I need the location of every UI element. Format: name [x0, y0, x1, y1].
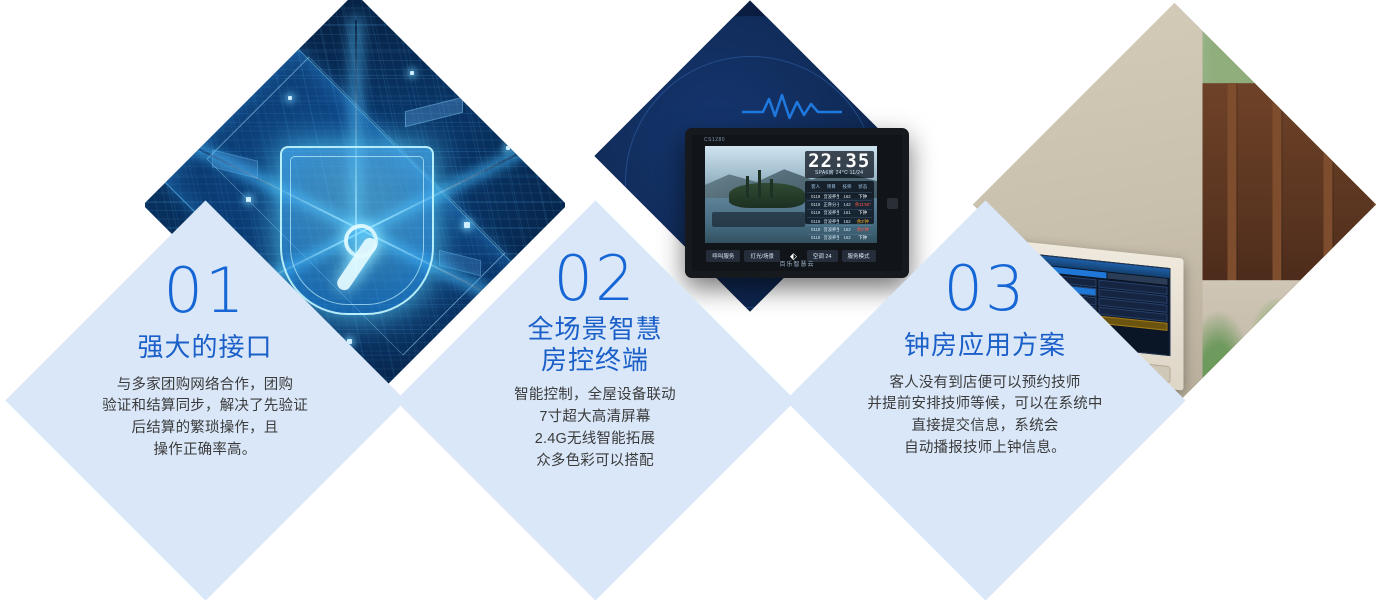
- spark-dot: [464, 222, 470, 228]
- terminal-model-label: CS1280: [704, 137, 725, 143]
- table-row: 0119音波养生SPA162下钟: [807, 234, 872, 242]
- screen-wallpaper-tree: [746, 176, 749, 198]
- table-cell-room: 0119: [808, 194, 824, 200]
- table-cell-status: 余3'钟: [855, 219, 871, 225]
- table-cell-item: 音波养生SPA: [823, 235, 839, 241]
- table-cell-tech: 162: [839, 219, 855, 225]
- screen-wallpaper-island: [729, 183, 805, 208]
- table-row: 0119正骨分子疗法理疗142余11'50": [807, 200, 872, 208]
- table-row: 0119音波养生SPA161下钟: [807, 209, 872, 217]
- table-row: 0119音波养生SPA162余3'钟: [807, 217, 872, 225]
- table-cell-status: 下钟: [855, 235, 871, 241]
- table-cell-status: 下钟: [855, 210, 871, 216]
- table-cell-status: 余11'50": [855, 202, 871, 208]
- wood-slat: [1272, 82, 1281, 298]
- keyhole-stem: [334, 235, 379, 293]
- terminal-screen[interactable]: 22:35 SPA6房 24°C 11/24 客人 项目 技师 状态 0119音…: [705, 146, 877, 243]
- table-row: 0119音波养生SPA162下钟: [807, 192, 872, 200]
- table-cell-room: 0119: [808, 202, 824, 208]
- spark-dot: [506, 146, 510, 150]
- table-body: 0119音波养生SPA162下钟0119正骨分子疗法理疗142余11'50"01…: [807, 192, 872, 242]
- terminal-brand-logo: 百乐智慧云: [692, 259, 902, 268]
- table-cell-room: 0119: [808, 210, 824, 216]
- table-cell-room: 0119: [808, 227, 824, 233]
- screen-wallpaper-tree: [770, 179, 773, 198]
- wood-slat: [1374, 82, 1376, 298]
- col-header-item: 项目: [823, 184, 839, 190]
- panel-list-right: [1099, 279, 1168, 330]
- table-cell-room: 0119: [808, 219, 824, 225]
- table-cell-tech: 162: [839, 227, 855, 233]
- table-cell-status: 余2'钟: [855, 227, 871, 233]
- table-cell-item: 音波养生SPA: [823, 227, 839, 233]
- rfid-reader-icon: [887, 198, 898, 209]
- table-header-row: 客人 项目 技师 状态: [807, 183, 872, 192]
- diamond-feature-board: CS1280 22:35 SPA6房 24°C 11/24 客人 项目 技师 状…: [0, 0, 1381, 603]
- clock-meta: SPA6房 24°C 11/24: [805, 169, 874, 176]
- col-header-status: 状态: [855, 184, 871, 190]
- table-cell-room: 0119: [808, 235, 824, 241]
- potted-plant: [1250, 297, 1306, 383]
- table-cell-item: 正骨分子疗法理疗: [823, 202, 839, 208]
- table-cell-tech: 142: [839, 202, 855, 208]
- spark-dot: [410, 71, 414, 75]
- table-cell-item: 音波养生SPA: [823, 194, 839, 200]
- col-header-guest: 客人: [808, 184, 824, 190]
- keyhole-ring: [344, 224, 378, 258]
- table-cell-item: 音波养生SPA: [823, 219, 839, 225]
- col-header-tech: 技师: [839, 184, 855, 190]
- table-cell-tech: 162: [839, 194, 855, 200]
- pulse-wave-icon: [742, 88, 842, 128]
- table-cell-tech: 162: [839, 235, 855, 241]
- wood-slat: [1323, 82, 1332, 298]
- shield-icon: [280, 146, 434, 315]
- clock-widget: 22:35 SPA6房 24°C 11/24: [805, 151, 874, 178]
- service-status-table: 客人 项目 技师 状态 0119音波养生SPA162下钟0119正骨分子疗法理疗…: [805, 181, 874, 224]
- table-cell-item: 音波养生SPA: [823, 210, 839, 216]
- table-cell-tech: 161: [839, 210, 855, 216]
- smart-room-terminal[interactable]: CS1280 22:35 SPA6房 24°C 11/24 客人 项目 技师 状…: [685, 128, 909, 278]
- screen-wallpaper-tree: [758, 170, 761, 198]
- spark-dot: [288, 96, 292, 100]
- spark-dot: [246, 197, 251, 202]
- table-row: 0119音波养生SPA162余2'钟: [807, 225, 872, 233]
- media-control-overlay[interactable]: [712, 212, 805, 228]
- table-cell-status: 下钟: [855, 194, 871, 200]
- wood-slat: [1227, 82, 1236, 298]
